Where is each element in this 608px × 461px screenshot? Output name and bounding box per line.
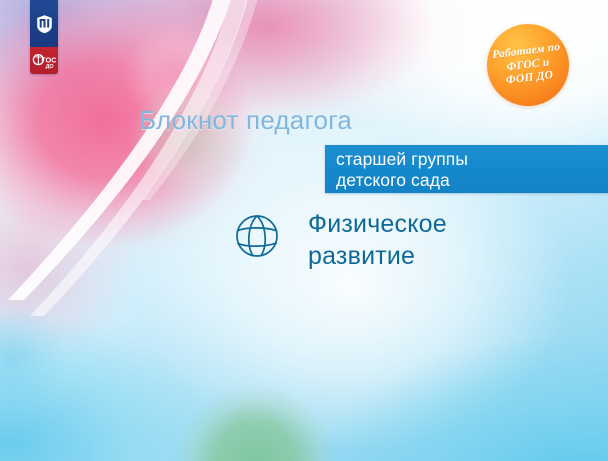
- subject-row: Физическое развитие: [234, 208, 447, 272]
- subject-title: Физическое развитие: [308, 208, 447, 272]
- publisher-logo-top: [30, 0, 58, 47]
- subtitle-band-text: старшей группы детского сада: [336, 149, 468, 190]
- publisher-mark-icon: [36, 14, 53, 34]
- page-title: Блокнот педагога: [139, 105, 352, 135]
- basketball-icon: [234, 213, 280, 259]
- publisher-logo-badge: ГОС ДО: [30, 0, 58, 74]
- fgos-compliance-badge: Работаем по ФГОС и ФОП ДО: [487, 24, 569, 106]
- fgos-badge-text: Работаем по ФГОС и ФОП ДО: [485, 40, 571, 90]
- book-cover: ГОС ДО Работаем по ФГОС и ФОП ДО Блокнот…: [0, 0, 608, 461]
- svg-text:ДО: ДО: [46, 64, 54, 69]
- publisher-logo-bottom: ГОС ДО: [30, 47, 58, 74]
- subtitle-band: старшей группы детского сада: [325, 145, 608, 193]
- fgos-do-mark-icon: ГОС ДО: [32, 52, 56, 69]
